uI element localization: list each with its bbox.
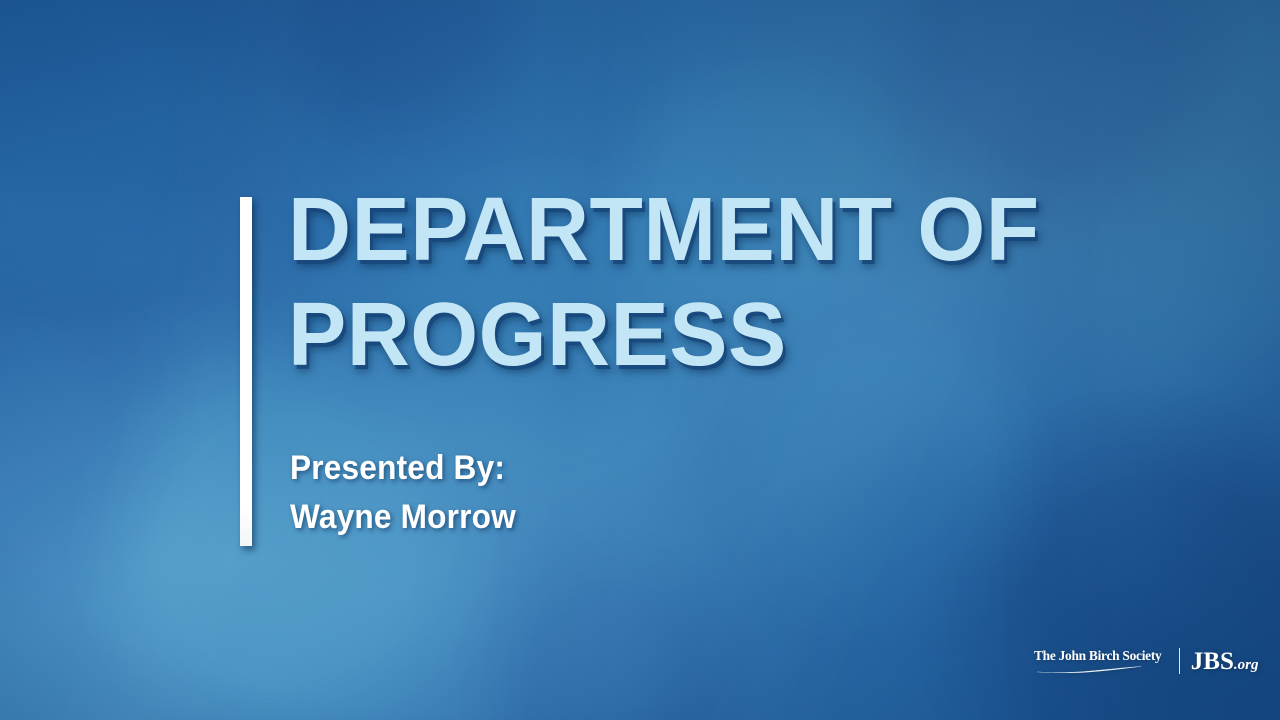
slide-title-line-2: PROGRESS [288, 283, 1122, 388]
john-birch-society-wordmark: The John Birch Society [1034, 649, 1177, 674]
presentation-slide: DEPARTMENT OF PROGRESS Presented By: Way… [0, 0, 1280, 720]
presented-by-label: Presented By: [290, 444, 848, 493]
swoosh-flourish-icon [1034, 665, 1144, 674]
jbs-initials-label: JBS [1191, 649, 1234, 674]
john-birch-society-label: The John Birch Society [1034, 649, 1161, 664]
jbs-org-wordmark: JBS .org [1191, 649, 1259, 674]
slide-title-line-1: DEPARTMENT OF [288, 178, 1122, 283]
title-accent-bar [240, 197, 252, 546]
jbs-logo-lockup: The John Birch Society JBS .org [1034, 642, 1258, 680]
slide-title: DEPARTMENT OF PROGRESS [288, 178, 1148, 388]
jbs-tld-label: .org [1234, 658, 1259, 673]
presenter-name: Wayne Morrow [290, 493, 848, 542]
logo-divider [1179, 648, 1180, 674]
slide-subtitle: Presented By: Wayne Morrow [290, 444, 890, 542]
